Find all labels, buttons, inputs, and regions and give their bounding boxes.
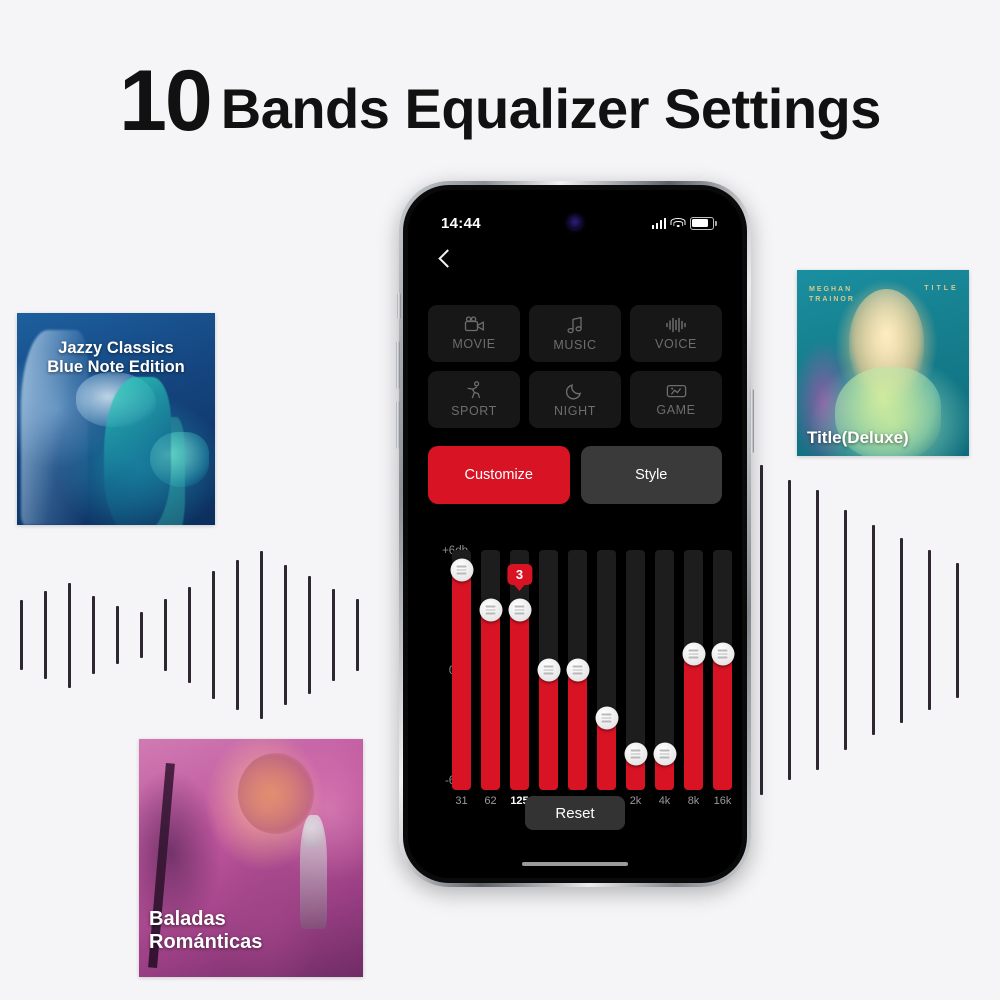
waveform-bar xyxy=(816,490,819,770)
equalizer: +6db 0db -6db 3 31621252505001k2k4k8k16k xyxy=(408,550,742,815)
eq-thumb[interactable] xyxy=(537,659,560,682)
eq-fill xyxy=(510,610,529,790)
preset-sport[interactable]: SPORT xyxy=(428,371,520,428)
preset-label: NIGHT xyxy=(554,404,596,418)
freq-label-8k[interactable]: 8k xyxy=(684,795,703,807)
volume-down-button[interactable] xyxy=(396,401,400,449)
eq-band-4k[interactable] xyxy=(655,550,674,790)
volume-up-button[interactable] xyxy=(396,341,400,389)
power-button[interactable] xyxy=(750,389,754,453)
eq-band-16k[interactable] xyxy=(713,550,732,790)
preset-label: SPORT xyxy=(451,404,497,418)
album-caption-baladas: Baladas Románticas xyxy=(149,908,262,955)
eq-thumb[interactable] xyxy=(653,743,676,766)
waveform-bar xyxy=(140,612,143,658)
waveform-bar xyxy=(844,510,847,750)
album-caption-jazzy-classics: Jazzy Classics Blue Note Edition xyxy=(17,339,215,378)
phone-screen: 14:44 xyxy=(408,190,742,878)
preset-label: MUSIC xyxy=(553,338,596,352)
waveform-bar xyxy=(928,550,931,710)
equalizer-sliders: 3 xyxy=(452,550,732,790)
waveform-bar xyxy=(308,576,311,694)
album-card-jazzy-classics[interactable]: Jazzy Classics Blue Note Edition xyxy=(17,313,215,525)
mute-switch[interactable] xyxy=(397,293,401,319)
preset-label: VOICE xyxy=(655,337,697,351)
album-caption-title-deluxe: Title(Deluxe) xyxy=(807,428,909,448)
eq-thumb[interactable] xyxy=(566,659,589,682)
mode-tabs: Customize Style xyxy=(428,446,722,504)
preset-label: MOVIE xyxy=(452,337,495,351)
freq-label-2k[interactable]: 2k xyxy=(626,795,645,807)
album-card-title-deluxe[interactable]: MEGHAN TRAINOR TITLE Title(Deluxe) xyxy=(797,270,969,456)
freq-label-31[interactable]: 31 xyxy=(452,795,471,807)
preset-movie[interactable]: MOVIE xyxy=(428,305,520,362)
film-camera-icon xyxy=(464,316,485,333)
headline-number: 10 xyxy=(119,53,211,149)
eq-band-500[interactable] xyxy=(568,550,587,790)
cellular-bars-icon xyxy=(652,218,667,229)
eq-band-1k[interactable] xyxy=(597,550,616,790)
waveform-bar xyxy=(188,587,191,683)
preset-music[interactable]: MUSIC xyxy=(529,305,621,362)
waveform-bar xyxy=(44,591,47,679)
freq-label-16k[interactable]: 16k xyxy=(713,795,732,807)
eq-thumb[interactable] xyxy=(711,643,734,666)
preset-grid: MOVIE MUSIC xyxy=(428,305,722,428)
eq-thumb[interactable] xyxy=(508,599,531,622)
waveform-bar xyxy=(788,480,791,780)
album-artist-name: MEGHAN TRAINOR xyxy=(809,285,855,306)
page-title: 10Bands Equalizer Settings xyxy=(0,52,1000,151)
gamepad-icon xyxy=(666,383,687,399)
waveform-bar xyxy=(116,606,119,664)
moon-icon xyxy=(566,382,584,400)
preset-night[interactable]: NIGHT xyxy=(529,371,621,428)
waveform-bar xyxy=(212,571,215,699)
waveform-bar xyxy=(900,538,903,723)
status-clock: 14:44 xyxy=(441,215,481,232)
eq-fill xyxy=(568,670,587,790)
home-indicator[interactable] xyxy=(522,862,628,866)
waveform-bar xyxy=(284,565,287,705)
eq-fill xyxy=(481,610,500,790)
waveform-bar xyxy=(20,600,23,670)
freq-label-4k[interactable]: 4k xyxy=(655,795,674,807)
waveform-bar xyxy=(236,560,239,710)
eq-thumb[interactable] xyxy=(479,599,502,622)
decorative-waveform-right xyxy=(760,400,990,860)
eq-band-2k[interactable] xyxy=(626,550,645,790)
eq-thumb[interactable] xyxy=(450,559,473,582)
waveform-bar xyxy=(164,599,167,671)
eq-band-125[interactable]: 3 xyxy=(510,550,529,790)
waveform-bar xyxy=(68,583,71,688)
eq-fill xyxy=(684,654,703,790)
status-icons xyxy=(652,217,715,230)
eq-fill xyxy=(539,670,558,790)
headline-text: Bands Equalizer Settings xyxy=(221,77,881,140)
eq-band-8k[interactable] xyxy=(684,550,703,790)
decorative-waveform-left xyxy=(20,525,380,745)
eq-fill xyxy=(452,570,471,790)
eq-band-62[interactable] xyxy=(481,550,500,790)
eq-band-250[interactable] xyxy=(539,550,558,790)
preset-game[interactable]: GAME xyxy=(630,371,722,428)
waveform-bar xyxy=(872,525,875,735)
tab-style[interactable]: Style xyxy=(581,446,723,504)
album-card-baladas-romanticas[interactable]: Baladas Románticas xyxy=(139,739,363,977)
eq-thumb[interactable] xyxy=(624,743,647,766)
status-bar: 14:44 xyxy=(408,212,742,234)
phone-mockup: 14:44 xyxy=(399,181,751,887)
waveform-bar xyxy=(760,465,763,795)
wifi-icon xyxy=(671,218,685,229)
eq-thumb[interactable] xyxy=(682,643,705,666)
eq-fill xyxy=(713,654,732,790)
sax-bell-shape xyxy=(150,432,209,487)
waveform-bar xyxy=(356,599,359,671)
battery-icon xyxy=(690,217,714,230)
eq-thumb[interactable] xyxy=(595,707,618,730)
waveform-bar xyxy=(332,589,335,681)
microphone-shape xyxy=(303,818,323,849)
freq-label-62[interactable]: 62 xyxy=(481,795,500,807)
runner-icon xyxy=(465,381,483,400)
album-title-word: TITLE xyxy=(924,285,958,292)
eq-band-31[interactable] xyxy=(452,550,471,790)
waveform-bar xyxy=(260,551,263,719)
poster-canvas: 10Bands Equalizer Settings Jazzy Classic… xyxy=(0,0,1000,1000)
waveform-bar xyxy=(956,563,959,698)
preset-label: GAME xyxy=(656,403,695,417)
voice-waveform-icon xyxy=(665,317,687,333)
preset-voice[interactable]: VOICE xyxy=(630,305,722,362)
reset-button[interactable]: Reset xyxy=(525,796,625,830)
back-chevron-icon[interactable] xyxy=(432,247,458,273)
sax-hand-shape xyxy=(76,372,155,427)
waveform-bar xyxy=(92,596,95,674)
eq-value-bubble: 3 xyxy=(507,564,532,585)
music-note-icon xyxy=(567,316,584,334)
tab-customize[interactable]: Customize xyxy=(428,446,570,504)
